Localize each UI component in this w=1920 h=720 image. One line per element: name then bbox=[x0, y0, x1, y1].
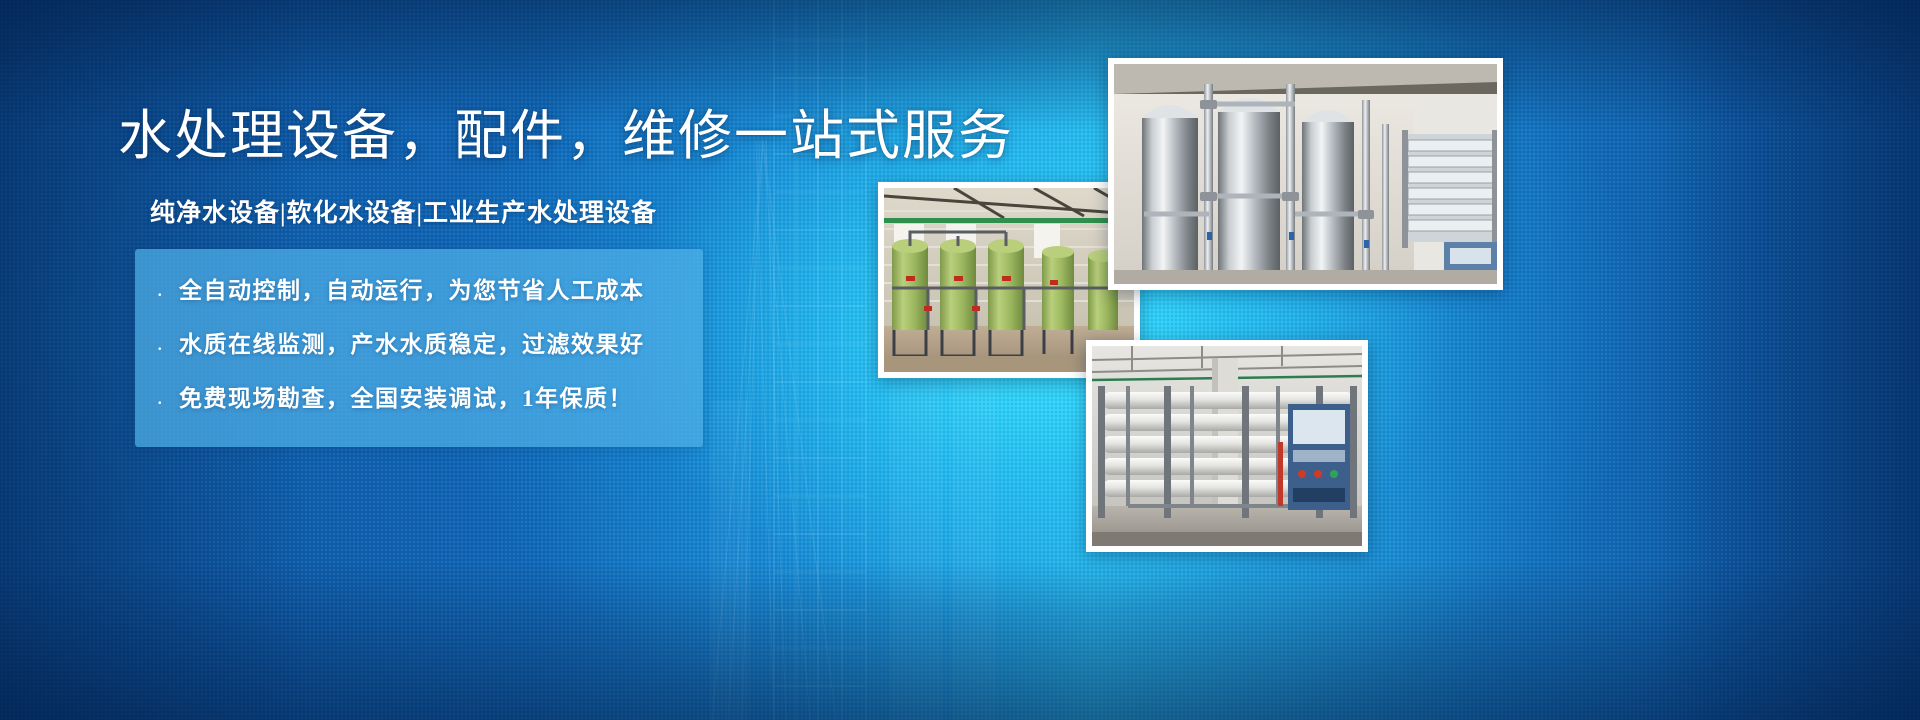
bullet-dot-icon: . bbox=[157, 332, 179, 354]
list-item-label: 水质在线监测，产水水质稳定，过滤效果好 bbox=[179, 325, 645, 359]
list-item-label: 免费现场勘查，全国安装调试，1年保质！ bbox=[179, 379, 633, 413]
banner-headline: 水处理设备，配件，维修一站式服务 bbox=[118, 104, 1014, 168]
list-item: . 水质在线监测，产水水质稳定，过滤效果好 bbox=[149, 325, 703, 379]
feature-list-card: . 全自动控制，自动运行，为您节省人工成本 . 水质在线监测，产水水质稳定，过滤… bbox=[135, 249, 703, 447]
list-item: . 免费现场勘查，全国安装调试，1年保质！ bbox=[149, 379, 703, 433]
promo-banner: 水处理设备，配件，维修一站式服务 纯净水设备|软化水设备|工业生产水处理设备 .… bbox=[0, 0, 1920, 720]
list-item: . 全自动控制，自动运行，为您节省人工成本 bbox=[149, 271, 703, 325]
photo-ro-membrane-skid bbox=[1086, 340, 1368, 552]
photo-stainless-steel-water-tanks bbox=[1108, 58, 1503, 290]
bullet-dot-icon: . bbox=[157, 278, 179, 300]
bullet-dot-icon: . bbox=[157, 386, 179, 408]
list-item-label: 全自动控制，自动运行，为您节省人工成本 bbox=[179, 271, 645, 305]
banner-subheadline: 纯净水设备|软化水设备|工业生产水处理设备 bbox=[150, 198, 657, 230]
feature-list: . 全自动控制，自动运行，为您节省人工成本 . 水质在线监测，产水水质稳定，过滤… bbox=[135, 249, 703, 447]
